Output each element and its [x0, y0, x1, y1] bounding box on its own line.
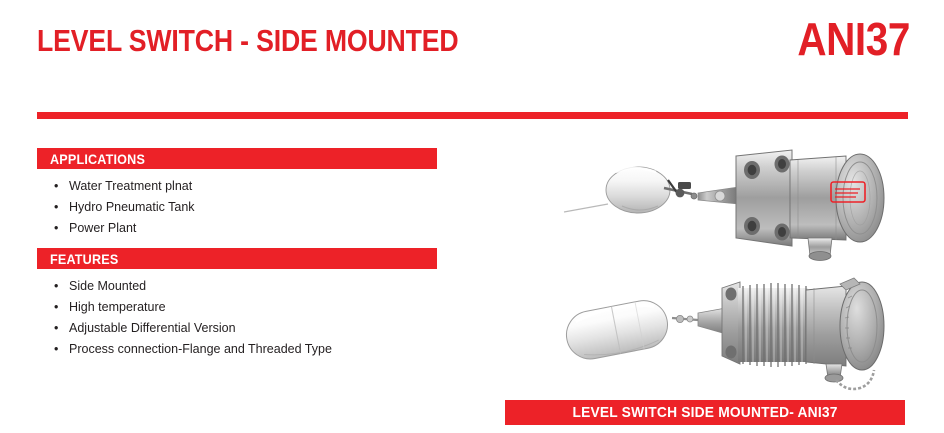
bullet-icon: • [54, 276, 58, 297]
section-header-features-label: FEATURES [50, 251, 118, 267]
list-item-label: Adjustable Differential Version [69, 321, 236, 335]
bullet-icon: • [54, 339, 58, 360]
list-item: • Hydro Pneumatic Tank [52, 197, 195, 218]
bullet-icon: • [54, 297, 58, 318]
list-item: • Power Plant [52, 218, 195, 239]
header-divider-rule [37, 112, 908, 119]
section-header-applications-label: APPLICATIONS [50, 151, 145, 167]
list-item: • Process connection-Flange and Threaded… [52, 339, 332, 360]
bullet-icon: • [54, 218, 58, 239]
product-caption-text: LEVEL SWITCH SIDE MOUNTED- ANI37 [572, 404, 837, 421]
list-item-label: Hydro Pneumatic Tank [69, 200, 195, 214]
product-caption-bar: LEVEL SWITCH SIDE MOUNTED- ANI37 [505, 400, 905, 425]
list-item-label: High temperature [69, 300, 166, 314]
section-header-features: FEATURES [37, 248, 437, 269]
list-item-label: Side Mounted [69, 279, 146, 293]
list-item: • Adjustable Differential Version [52, 318, 332, 339]
datasheet-page: LEVEL SWITCH - SIDE MOUNTED ANI37 APPLIC… [0, 0, 944, 433]
product-photo-threaded-level-switch [540, 268, 910, 396]
list-item-label: Power Plant [69, 221, 136, 235]
list-item: • Side Mounted [52, 276, 332, 297]
bullet-icon: • [54, 176, 58, 197]
list-item: • High temperature [52, 297, 332, 318]
bullet-icon: • [54, 318, 58, 339]
section-header-applications: APPLICATIONS [37, 148, 437, 169]
list-item-label: Process connection-Flange and Threaded T… [69, 342, 332, 356]
model-number: ANI37 [797, 14, 910, 64]
page-title: LEVEL SWITCH - SIDE MOUNTED [37, 24, 458, 58]
list-item-label: Water Treatment plnat [69, 179, 192, 193]
features-list: • Side Mounted • High temperature • Adju… [52, 276, 332, 360]
applications-list: • Water Treatment plnat • Hydro Pneumati… [52, 176, 195, 239]
list-item: • Water Treatment plnat [52, 176, 195, 197]
product-photo-flange-mounted-level-switch [560, 146, 900, 261]
bullet-icon: • [54, 197, 58, 218]
